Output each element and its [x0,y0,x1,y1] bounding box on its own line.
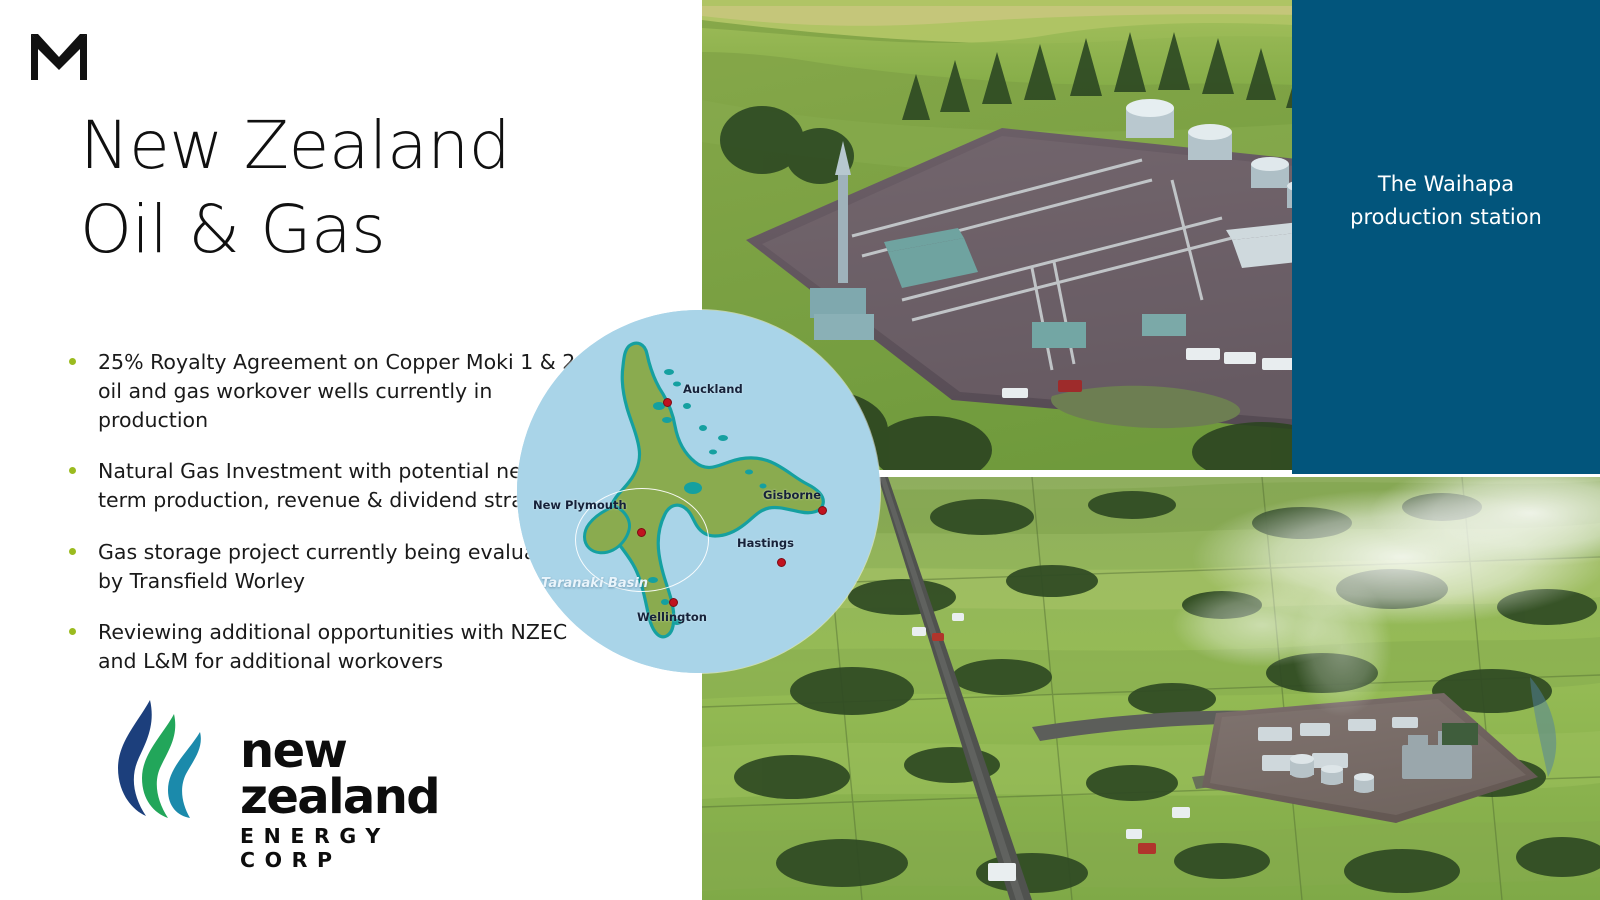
list-item: Reviewing additional opportunities with … [62,618,587,676]
map-marker-wellington [669,598,678,607]
bullet-dot-icon [69,467,76,474]
map-marker-new-plymouth [637,528,646,537]
nzec-wordmark-secondary: ENERGY CORP [240,824,502,872]
nzec-wordmark-primary: new zealand [240,728,502,820]
list-item-text: Natural Gas Investment with potential ne… [98,457,587,515]
list-item: Gas storage project currently being eval… [62,538,587,596]
stylized-m-monogram-icon [28,30,90,82]
bullet-dot-icon [69,548,76,555]
list-item-text: 25% Royalty Agreement on Copper Moki 1 &… [98,348,587,435]
caption-text: The Waihapa production station [1292,168,1600,233]
list-item-text: Gas storage project currently being eval… [98,538,587,596]
map-label-new-plymouth: New Plymouth [533,498,627,512]
new-zealand-north-island-map: Auckland Gisborne New Plymouth Hastings … [517,310,880,673]
nzec-flame-logo-icon [112,698,217,818]
map-marker-hastings [777,558,786,567]
list-item-text: Reviewing additional opportunities with … [98,618,587,676]
bullet-dot-icon [69,628,76,635]
map-label-taranaki-basin: Taranaki Basin [541,576,648,591]
list-item: 25% Royalty Agreement on Copper Moki 1 &… [62,348,587,435]
nzec-wordmark: new zealand ENERGY CORP [240,728,502,872]
map-label-gisborne: Gisborne [763,488,821,502]
map-label-auckland: Auckland [683,382,743,396]
bullet-dot-icon [69,358,76,365]
map-label-hastings: Hastings [737,536,794,550]
map-label-wellington: Wellington [637,610,707,624]
bullet-list: 25% Royalty Agreement on Copper Moki 1 &… [62,348,587,698]
map-marker-auckland [663,398,672,407]
page-title: New Zealand Oil & Gas [80,104,680,273]
list-item: Natural Gas Investment with potential ne… [62,457,587,515]
caption-panel: The Waihapa production station [1292,0,1600,474]
map-marker-gisborne [818,506,827,515]
nzec-logo: new zealand ENERGY CORP [112,698,502,818]
